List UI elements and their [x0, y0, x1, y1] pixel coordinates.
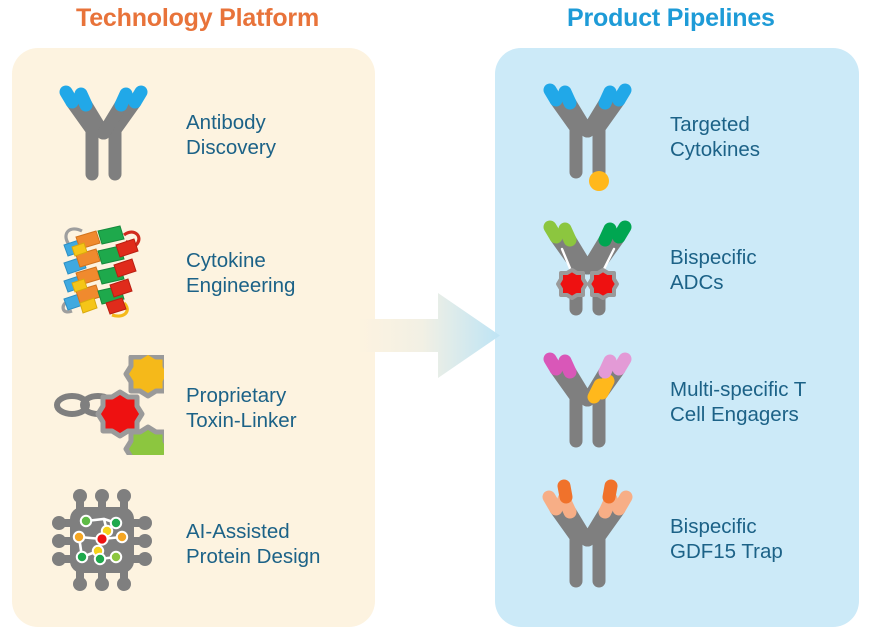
cytokine-ribbon-icon	[52, 215, 164, 330]
list-item-label: Bispecific ADCs	[670, 245, 757, 295]
cytokine-payload-dot	[589, 171, 609, 191]
page-title-product-pipelines: Product Pipelines	[567, 4, 775, 33]
list-item-targeted-cytokines: Targeted Cytokines	[536, 76, 760, 197]
antibody-icon	[52, 78, 164, 191]
toxin-linker-icon	[52, 355, 164, 460]
list-item-label: Cytokine Engineering	[186, 248, 295, 298]
list-item-antibody-discovery: Antibody Discovery	[52, 78, 276, 191]
page-title-technology-platform: Technology Platform	[76, 4, 319, 33]
list-item-label: Bispecific GDF15 Trap	[670, 514, 783, 564]
platform-to-pipeline-arrow	[358, 293, 500, 378]
list-item-bispecific-gdf15-trap: Bispecific GDF15 Trap	[536, 477, 783, 600]
list-item-multi-specific-t-cell-engagers: Multi-specific T Cell Engagers	[536, 345, 806, 458]
infographic-stage: Technology Platform Product Pipelines	[0, 0, 871, 643]
list-item-bispecific-adcs: Bispecific ADCs	[536, 213, 757, 326]
gdf15-trap-antibody-icon	[536, 477, 648, 600]
list-item-label: Multi-specific T Cell Engagers	[670, 377, 806, 427]
list-item-label: Antibody Discovery	[186, 110, 276, 160]
list-item-label: Targeted Cytokines	[670, 112, 760, 162]
targeted-cytokine-antibody-icon	[536, 76, 648, 197]
list-item-label: Proprietary Toxin-Linker	[186, 383, 297, 433]
list-item-label: AI-Assisted Protein Design	[186, 519, 320, 569]
t-cell-engager-antibody-icon	[536, 345, 648, 458]
list-item-ai-assisted-protein-design: AI-Assisted Protein Design	[52, 487, 320, 600]
list-item-proprietary-toxin-linker: Proprietary Toxin-Linker	[52, 355, 297, 460]
ai-chip-icon	[52, 487, 164, 600]
bispecific-adc-antibody-icon	[536, 213, 648, 326]
list-item-cytokine-engineering: Cytokine Engineering	[52, 215, 295, 330]
